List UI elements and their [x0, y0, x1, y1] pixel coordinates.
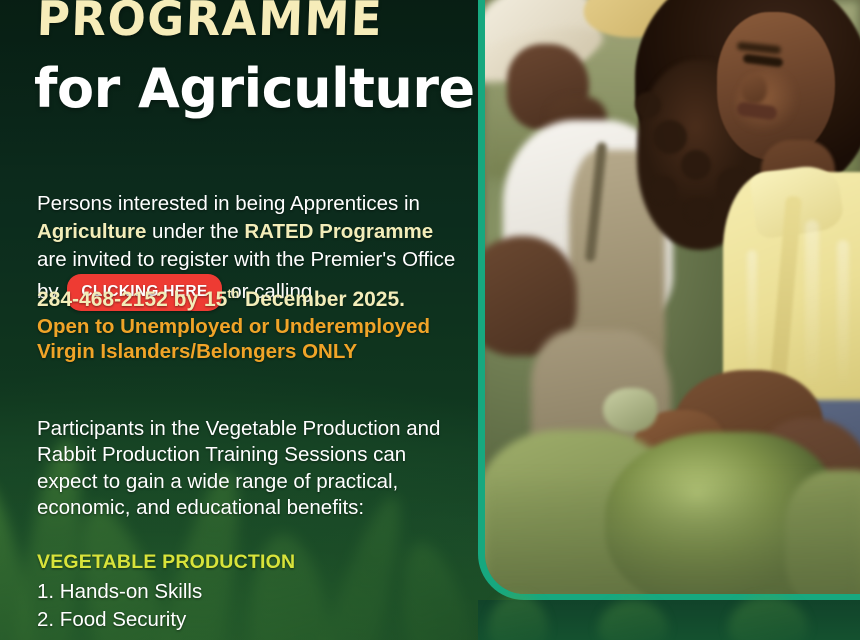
photo-bottom-strip: [478, 600, 860, 640]
eligibility-line-2: Virgin Islanders/Belongers ONLY: [37, 339, 477, 364]
poster-canvas: PROGRAMME for Agriculture Persons intere…: [0, 0, 860, 640]
deadline-day-suffix: th: [227, 287, 239, 301]
contact-by: by: [168, 288, 204, 311]
deadline-day: 15: [204, 288, 227, 311]
headline-for-agriculture: for Agriculture: [34, 62, 475, 116]
participants-paragraph: Participants in the Vegetable Production…: [37, 416, 452, 522]
list-item: 1. Hands-on Skills: [37, 578, 457, 606]
list-item: 2. Food Security: [37, 606, 457, 634]
section-heading-vegetable-production: VEGETABLE PRODUCTION: [37, 551, 295, 574]
deadline-month-year: December 2025.: [239, 288, 405, 311]
contact-line: 284-468-2152 by 15th December 2025.: [37, 281, 467, 313]
eligibility-notice: Open to Unemployed or Underemployed Virg…: [37, 314, 477, 364]
intro-text-1: Persons interested in being Apprentices …: [37, 192, 420, 215]
farmers-photo: [485, 0, 860, 594]
benefits-list: 1. Hands-on Skills 2. Food Security: [37, 578, 457, 634]
photo-panel: [478, 0, 860, 600]
phone-number[interactable]: 284-468-2152: [37, 288, 168, 311]
eligibility-line-1: Open to Unemployed or Underemployed: [37, 314, 477, 339]
text-column: PROGRAMME for Agriculture Persons intere…: [0, 0, 478, 640]
intro-agriculture-highlight: Agriculture: [37, 220, 146, 243]
intro-rated-programme-highlight: RATED Programme: [244, 220, 433, 243]
intro-text-2: under the: [146, 220, 244, 243]
headline-programme: PROGRAMME: [36, 0, 384, 42]
